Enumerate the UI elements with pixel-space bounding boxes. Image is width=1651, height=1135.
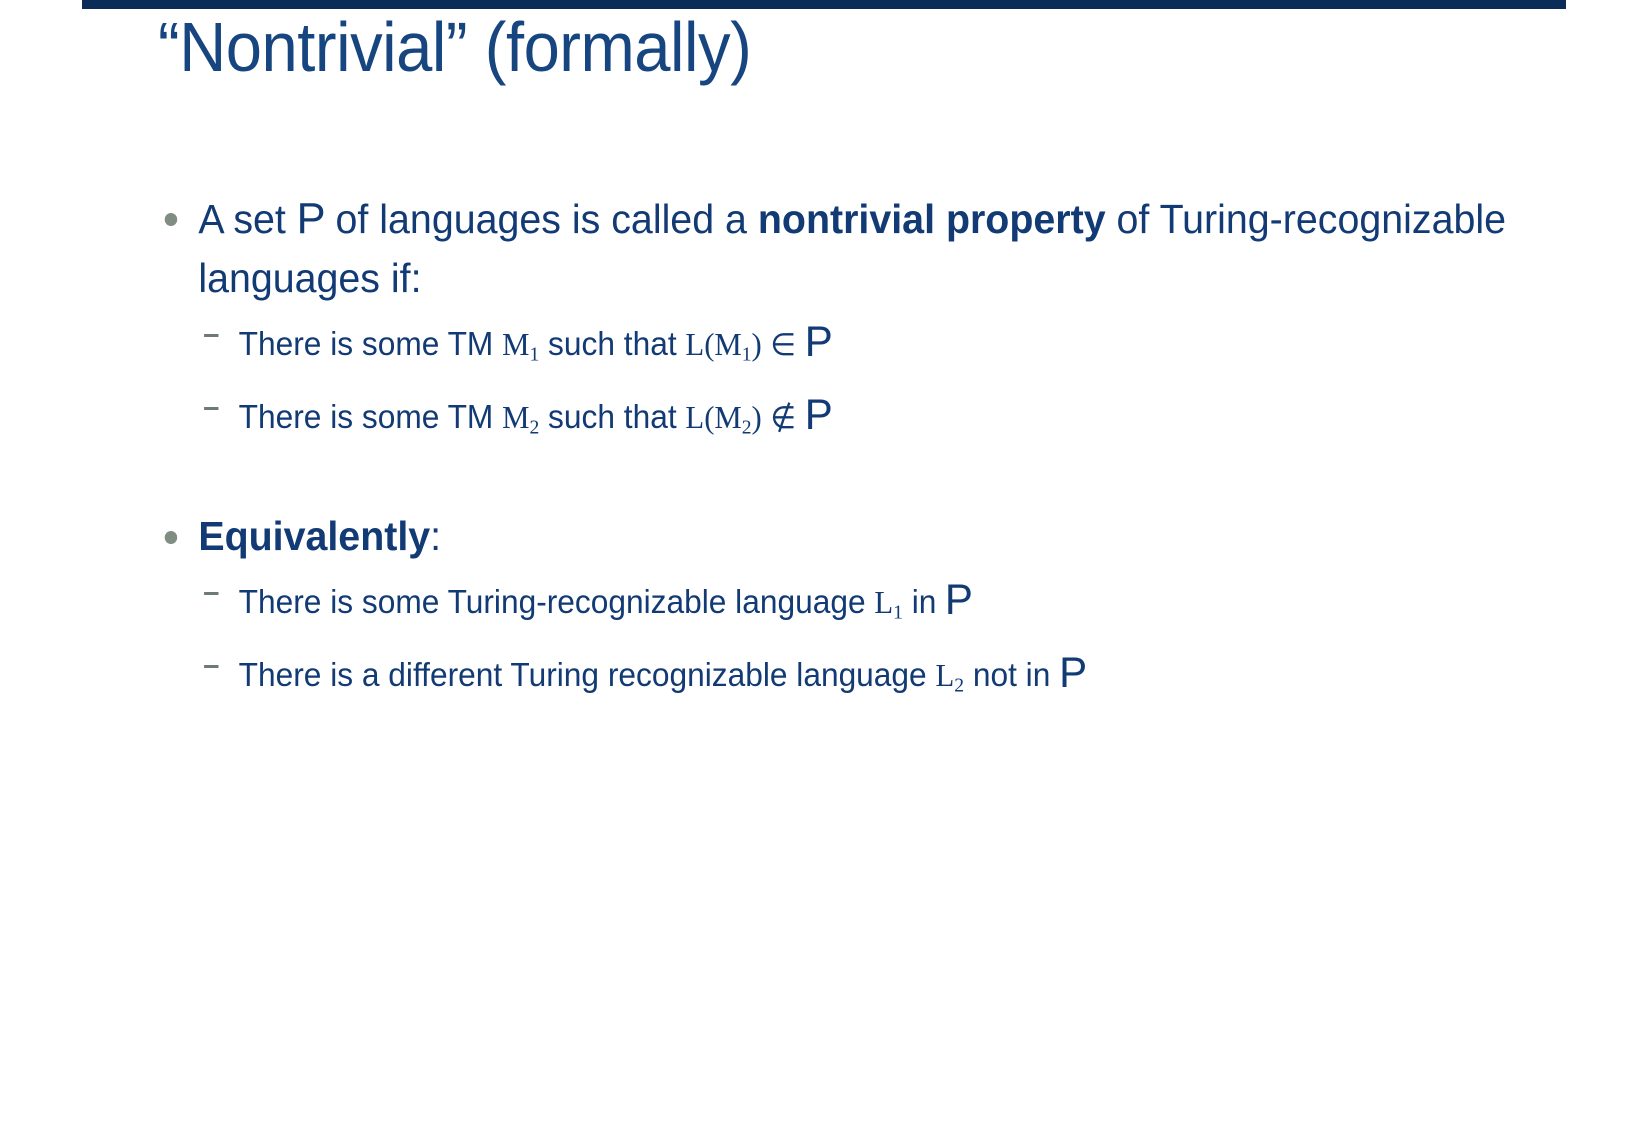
sub3-text-part2: in	[903, 583, 945, 620]
sub2-relation-not-member-icon: ∉	[770, 401, 796, 436]
bullet2-bold-phrase: Equivalently	[198, 513, 430, 559]
sub-bullet-dash-icon	[204, 665, 218, 668]
sub4-math-l-subscript: 2	[954, 674, 964, 696]
sub1-relation-member-icon: ∈	[770, 328, 796, 363]
sub-bullet-dash-icon	[204, 334, 218, 337]
bullet-item-equivalently: Equivalently:	[158, 508, 1521, 564]
sub4-symbol-p: P	[1059, 637, 1087, 710]
sub2-math-l-close: )	[752, 399, 762, 435]
bullet1-symbol-p: P	[296, 190, 325, 250]
bullet1-bold-phrase: nontrivial property	[758, 196, 1106, 242]
sub1-math-m-subscript: 1	[529, 343, 539, 365]
sub1-math-m: M	[502, 326, 529, 362]
sub4-text-part1: There is a different Turing recognizable…	[239, 656, 936, 693]
slide: “Nontrivial” (formally) A set P of langu…	[0, 0, 1651, 1135]
sub-bullet-dash-icon	[204, 592, 218, 595]
sub3-text-part1: There is some Turing-recognizable langua…	[239, 583, 875, 620]
sub2-text-part1: There is some TM	[239, 398, 502, 435]
section-spacer	[158, 452, 1578, 508]
sub1-math-l-open: L(M	[685, 326, 741, 362]
sub-bullet-dash-icon	[204, 407, 218, 410]
bullet1-text-part1: A set	[198, 196, 296, 242]
sub-bullet-language-l2: There is a different Turing recognizable…	[158, 637, 1521, 710]
page-title: “Nontrivial” (formally)	[158, 12, 1441, 82]
bullet2-colon: :	[430, 513, 441, 559]
sub3-math-l-subscript: 1	[893, 601, 903, 623]
sub2-math-m: M	[502, 399, 529, 435]
sub2-math-l-subscript: 2	[742, 416, 752, 438]
sub2-math-m-subscript: 2	[529, 416, 539, 438]
sub1-text-part2: such that	[539, 325, 685, 362]
bullet-dot-icon	[165, 531, 177, 544]
slide-body: A set P of languages is called a nontriv…	[158, 190, 1578, 710]
sub3-math-l: L	[874, 584, 893, 620]
sub4-math-l: L	[935, 657, 954, 693]
sub3-symbol-p: P	[945, 564, 973, 637]
bullet1-text-part2: of languages is called a	[325, 196, 758, 242]
sub-bullet-language-l1: There is some Turing-recognizable langua…	[158, 564, 1521, 637]
sub-bullet-tm-m1: There is some TM M1 such that L(M1)∈P	[158, 306, 1521, 379]
bullet-dot-icon	[165, 213, 177, 226]
sub2-math-l-open: L(M	[685, 399, 741, 435]
sub1-math-l-subscript: 1	[742, 343, 752, 365]
sub2-text-part2: such that	[539, 398, 685, 435]
sub4-text-part2: not in	[964, 656, 1059, 693]
sub1-math-l-close: )	[752, 326, 762, 362]
sub-bullet-tm-m2: There is some TM M2 such that L(M2)∉P	[158, 379, 1521, 452]
bullet-item-nontrivial-property: A set P of languages is called a nontriv…	[158, 190, 1521, 306]
sub1-symbol-p: P	[804, 306, 832, 379]
sub1-text-part1: There is some TM	[239, 325, 502, 362]
sub2-symbol-p: P	[804, 379, 832, 452]
